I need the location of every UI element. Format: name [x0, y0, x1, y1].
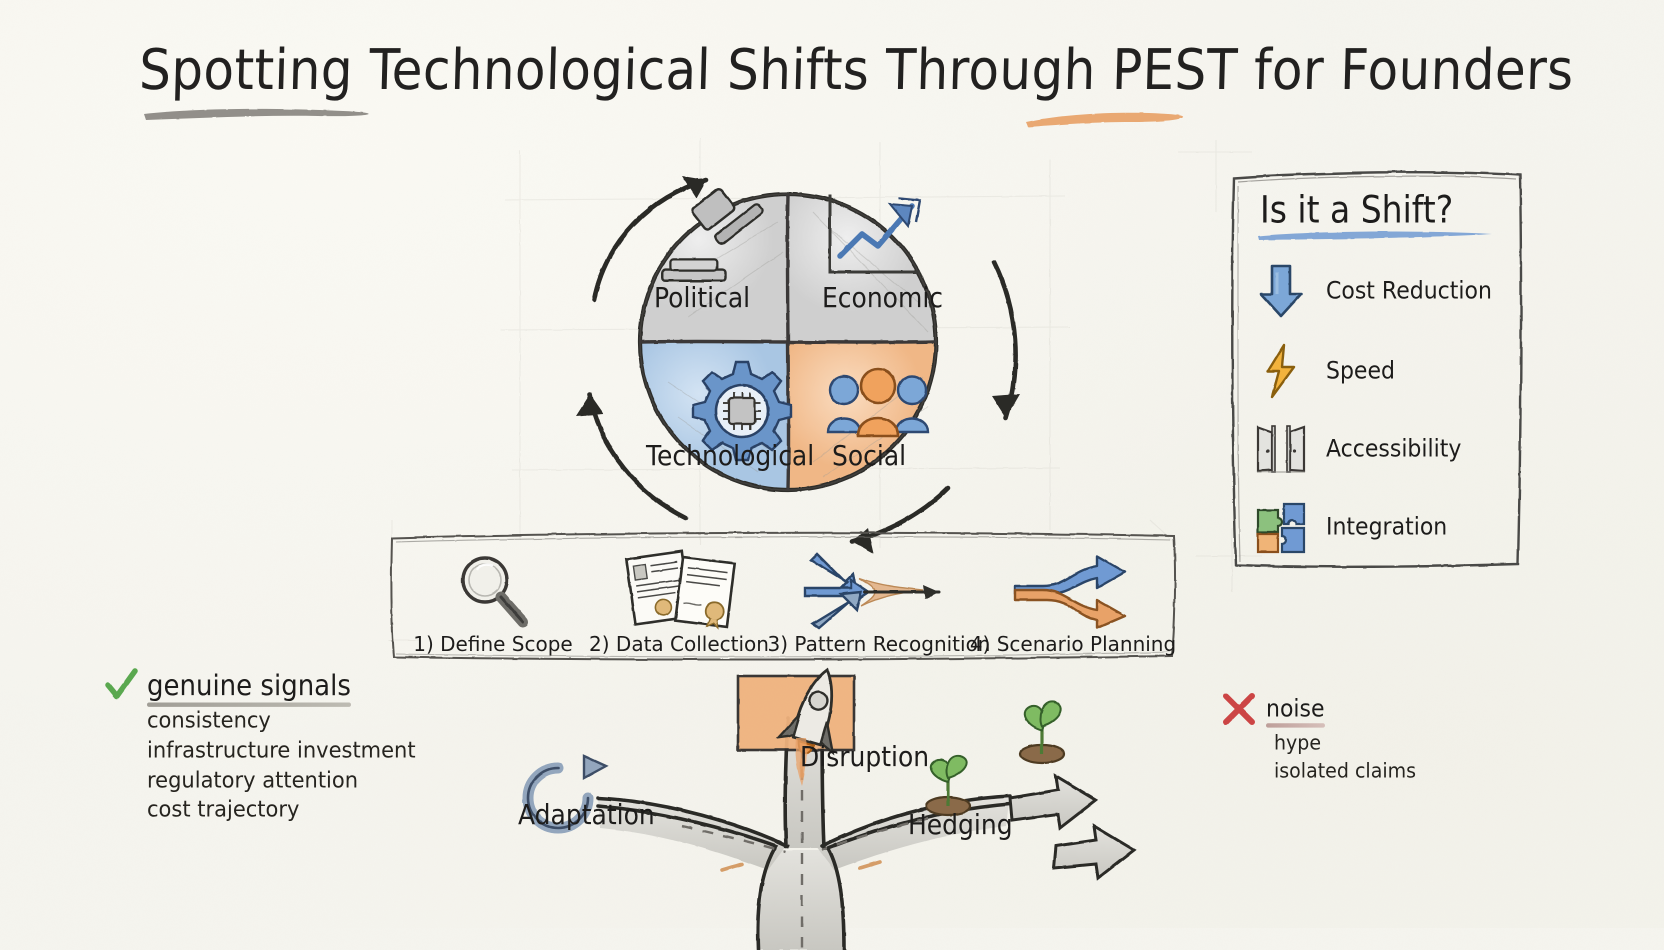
noise-heading: noise	[1222, 692, 1522, 726]
criteria-row-integration: Integration	[1254, 498, 1514, 556]
infographic-canvas: Spotting Technological Shifts Through PE…	[0, 0, 1664, 928]
wheel-label-political: Political	[654, 282, 750, 314]
wheel-label-technological: Technological	[646, 440, 814, 472]
page-title: Spotting Technological Shifts Through PE…	[140, 42, 1480, 122]
genuine-signals-heading: genuine signals	[105, 670, 465, 702]
criteria-label: Speed	[1326, 358, 1395, 385]
process-step-4: 4) Scenario Planning	[968, 632, 1178, 656]
step-label: 3) Pattern Recognition	[768, 632, 991, 656]
list-item: isolated claims	[1274, 757, 1522, 786]
cross-icon	[1222, 692, 1256, 726]
genuine-signals-title: genuine signals	[147, 670, 351, 703]
genuine-signals-block: genuine signals consistency infrastructu…	[105, 670, 465, 825]
list-item: consistency	[147, 705, 465, 737]
panel-title: Is it a Shift?	[1260, 188, 1453, 232]
noise-list: hype isolated claims	[1274, 730, 1522, 785]
process-step-3: 3) Pattern Recognition	[766, 632, 992, 656]
list-item: regulatory attention	[147, 765, 465, 797]
process-step-1: 1) Define Scope	[398, 632, 588, 656]
step-label: 1) Define Scope	[413, 632, 572, 656]
wheel-label-social: Social	[832, 440, 906, 472]
genuine-signals-list: consistency infrastructure investment re…	[147, 706, 465, 825]
converging-arrows-icon	[778, 556, 974, 628]
branching-arrows-icon	[978, 556, 1172, 628]
down-arrow-icon	[1254, 264, 1308, 318]
lightning-bolt-icon	[1254, 344, 1308, 398]
check-icon	[105, 670, 137, 702]
magnifier-icon	[404, 556, 584, 628]
heading-underline	[1266, 723, 1325, 727]
puzzle-pieces-icon	[1254, 500, 1308, 554]
criteria-row-speed: Speed	[1254, 342, 1514, 400]
criteria-label: Accessibility	[1326, 436, 1461, 463]
open-doors-icon	[1254, 422, 1308, 476]
people-icon	[828, 369, 928, 436]
documents-icon	[584, 556, 774, 628]
road-label-hedging: Hedging	[908, 809, 1013, 841]
list-item: hype	[1274, 729, 1522, 758]
panel-title-underline	[1256, 230, 1496, 242]
step-label: 4) Scenario Planning	[970, 632, 1176, 656]
road-label-disruption: Disruption	[800, 741, 929, 773]
process-step-2: 2) Data Collection	[576, 632, 782, 656]
page-title-text: Spotting Technological Shifts Through PE…	[139, 42, 1480, 98]
list-item: infrastructure investment	[147, 735, 465, 767]
pest-wheel	[528, 132, 1048, 552]
list-item: cost trajectory	[147, 795, 465, 827]
wheel-label-economic: Economic	[822, 282, 943, 314]
noise-block: noise hype isolated claims	[1222, 692, 1522, 785]
noise-title: noise	[1266, 695, 1325, 723]
criteria-label: Integration	[1326, 514, 1447, 541]
road-label-adaptation: Adaptation	[518, 799, 655, 831]
criteria-row-accessibility: Accessibility	[1254, 420, 1514, 478]
criteria-label: Cost Reduction	[1326, 278, 1492, 305]
step-label: 2) Data Collection	[589, 632, 769, 656]
criteria-row-cost-reduction: Cost Reduction	[1254, 262, 1514, 320]
title-underlines	[138, 98, 1478, 132]
shift-criteria-panel: Is it a Shift? Cost Reduction Speed	[1228, 166, 1524, 570]
process-strip: 1) Define Scope	[388, 528, 1178, 662]
